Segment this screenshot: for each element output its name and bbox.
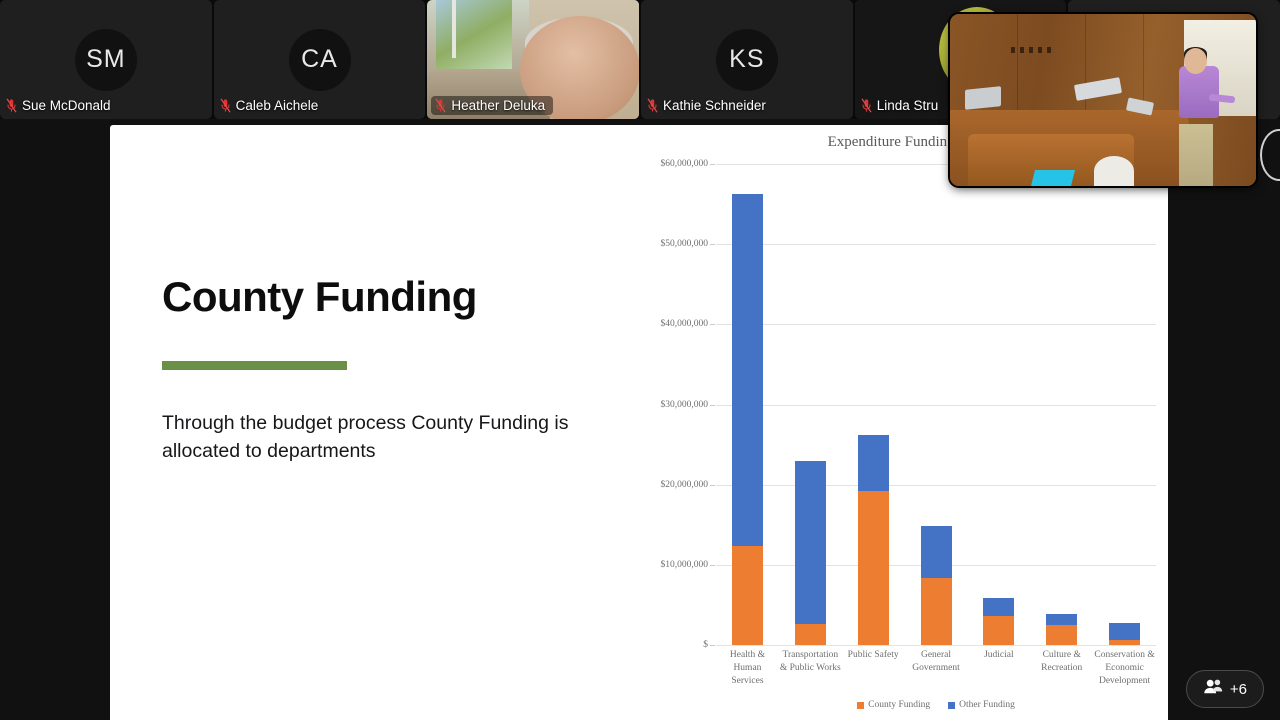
chart-bar-slot — [1093, 164, 1156, 645]
chart-bar-segment-county-funding — [1109, 640, 1140, 645]
chart-bar-segment-other-funding — [858, 435, 889, 491]
avatar: KS — [716, 29, 778, 91]
participants-overflow-count: +6 — [1230, 681, 1247, 698]
title-accent-rule — [162, 361, 347, 370]
chart-bar-segment-other-funding — [921, 526, 952, 578]
chart-bar — [921, 526, 952, 645]
chart-y-tick-label: $ — [703, 640, 708, 650]
participant-tile-sue-mcdonald[interactable]: SM Sue McDonald — [0, 0, 212, 119]
chart-bars — [716, 164, 1156, 645]
chart-bar-segment-county-funding — [732, 546, 763, 645]
chart-bar — [983, 598, 1014, 645]
shared-slide: County Funding Through the budget proces… — [110, 125, 1168, 720]
chart-legend-item: Other Funding — [948, 700, 1015, 710]
mic-muted-icon — [435, 98, 446, 113]
chart-y-tick-label: $60,000,000 — [661, 159, 709, 169]
chart-bar — [1109, 623, 1140, 645]
chart-bar-segment-county-funding — [858, 491, 889, 645]
chart-bar-slot — [842, 164, 905, 645]
participant-name: Heather Deluka — [451, 98, 545, 113]
chart-bar — [1046, 614, 1077, 645]
participant-nameplate: Caleb Aichele — [220, 98, 319, 113]
chart-gridline — [716, 645, 1156, 646]
chart-legend-swatch — [948, 702, 955, 709]
chart-bar-segment-other-funding — [732, 194, 763, 545]
chart-bar — [858, 435, 889, 645]
participant-name: Linda Stru — [877, 98, 939, 113]
chart-legend-swatch — [857, 702, 864, 709]
chart-bar-slot — [1030, 164, 1093, 645]
mic-muted-icon — [861, 98, 872, 113]
chart-bar-slot — [779, 164, 842, 645]
chart-bar-segment-other-funding — [983, 598, 1014, 616]
participant-nameplate: Sue McDonald — [6, 98, 111, 113]
chart-bar-segment-other-funding — [1046, 614, 1077, 625]
avatar: CA — [289, 29, 351, 91]
presenter-video-feed — [950, 14, 1256, 186]
chart-plot-area: $60,000,000$50,000,000$40,000,000$30,000… — [716, 164, 1156, 645]
participant-nameplate: Linda Stru — [861, 98, 939, 113]
slide-body-text: Through the budget process County Fundin… — [162, 410, 632, 465]
chart-category-label: GeneralGovernment — [905, 649, 968, 687]
chart-category-label: Health &HumanServices — [716, 649, 779, 687]
chart-bar — [795, 461, 826, 645]
participant-nameplate: Kathie Schneider — [647, 98, 766, 113]
chart-y-tick-label: $40,000,000 — [661, 319, 709, 329]
mic-muted-icon — [647, 98, 658, 113]
zoom-meeting-window: SM Sue McDonald CA Caleb Aichele — [0, 0, 1280, 720]
participant-tile-caleb-aichele[interactable]: CA Caleb Aichele — [214, 0, 426, 119]
chart-bar-segment-county-funding — [1046, 625, 1077, 645]
chart-legend-label: Other Funding — [959, 700, 1015, 710]
page-title: County Funding — [162, 275, 632, 319]
participants-overflow-button[interactable]: +6 — [1186, 670, 1264, 708]
chart-bar-slot — [716, 164, 779, 645]
chart-legend: County FundingOther Funding — [716, 700, 1156, 710]
chart-bar-segment-other-funding — [795, 461, 826, 625]
chart-category-label: Transportation& Public Works — [779, 649, 842, 687]
participant-tile-kathie-schneider[interactable]: KS Kathie Schneider — [641, 0, 853, 119]
participant-nameplate: Heather Deluka — [431, 96, 553, 115]
chart-bar — [732, 194, 763, 645]
chart-y-tick-label: $20,000,000 — [661, 480, 709, 490]
participant-tile-heather-deluka[interactable]: Heather Deluka — [427, 0, 639, 119]
mic-muted-icon — [220, 98, 231, 113]
collapse-arc-icon[interactable] — [1260, 129, 1280, 181]
chart-bar-slot — [905, 164, 968, 645]
slide-text-column: County Funding Through the budget proces… — [162, 275, 632, 465]
chart-bar-slot — [967, 164, 1030, 645]
chart-y-tick-label: $30,000,000 — [661, 400, 709, 410]
chart-category-label: Conservation &EconomicDevelopment — [1093, 649, 1156, 687]
chart-legend-item: County Funding — [857, 700, 930, 710]
chart-bar-segment-county-funding — [921, 578, 952, 645]
participant-name: Kathie Schneider — [663, 98, 766, 113]
people-icon — [1203, 679, 1223, 699]
expenditure-chart: Expenditure Funding by $60,000,000$50,00… — [638, 133, 1163, 718]
participant-name: Sue McDonald — [22, 98, 111, 113]
chart-category-label: Judicial — [967, 649, 1030, 687]
mic-muted-icon — [6, 98, 17, 113]
chart-y-tick-label: $50,000,000 — [661, 239, 709, 249]
chart-y-tick-label: $10,000,000 — [661, 560, 709, 570]
chart-bar-segment-county-funding — [983, 616, 1014, 645]
chart-bar-segment-other-funding — [1109, 623, 1140, 641]
chart-bar-segment-county-funding — [795, 624, 826, 645]
chart-x-axis-labels: Health &HumanServicesTransportation& Pub… — [716, 649, 1156, 687]
participant-name: Caleb Aichele — [236, 98, 319, 113]
chart-legend-label: County Funding — [868, 700, 930, 710]
presenter-video-overlay[interactable] — [950, 14, 1256, 186]
avatar: SM — [75, 29, 137, 91]
chart-category-label: Culture &Recreation — [1030, 649, 1093, 687]
chart-category-label: Public Safety — [842, 649, 905, 687]
